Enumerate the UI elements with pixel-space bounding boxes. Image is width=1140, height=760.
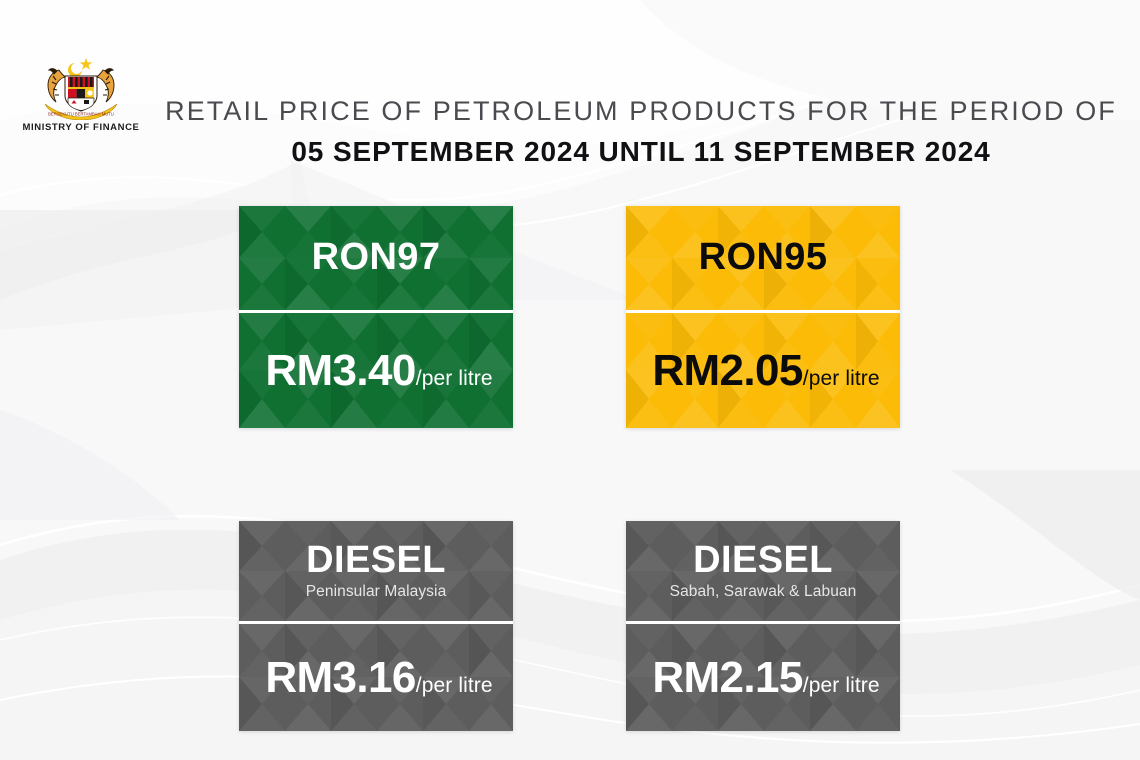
price-card-ron95-unit: /per litre xyxy=(803,368,880,389)
price-card-diesel-east-divider xyxy=(626,621,900,624)
price-card-diesel-sabah-sarawak-labuan: DIESEL Sabah, Sarawak & Labuan xyxy=(626,521,900,731)
price-card-ron97: RON97 xyxy=(239,206,513,428)
price-card-diesel-east-price-panel: RM2.15 /per litre xyxy=(626,624,900,731)
price-card-diesel-peninsular: DIESEL Peninsular Malaysia xyxy=(239,521,513,731)
price-card-diesel-east-region: Sabah, Sarawak & Labuan xyxy=(626,583,900,601)
price-card-diesel-peninsular-price-panel: RM3.16 /per litre xyxy=(239,624,513,731)
price-card-ron95-divider xyxy=(626,310,900,313)
price-card-ron97-header: RON97 xyxy=(239,206,513,310)
price-card-ron97-name: RON97 xyxy=(239,238,513,278)
price-card-diesel-east-price: RM2.15 xyxy=(652,656,802,700)
page-title-line-1: RETAIL PRICE OF PETROLEUM PRODUCTS FOR T… xyxy=(160,96,1122,127)
page-title-block: RETAIL PRICE OF PETROLEUM PRODUCTS FOR T… xyxy=(160,96,1122,168)
price-card-ron95-name: RON95 xyxy=(626,238,900,278)
price-card-diesel-peninsular-price: RM3.16 xyxy=(265,656,415,700)
price-card-diesel-peninsular-name: DIESEL xyxy=(239,541,513,581)
price-card-diesel-peninsular-unit: /per litre xyxy=(416,675,493,696)
price-card-ron95-header: RON95 xyxy=(626,206,900,310)
price-card-ron97-price-panel: RM3.40 /per litre xyxy=(239,313,513,428)
malaysia-coat-of-arms-icon: BERSEKUTU BERTAMBAH MUTU xyxy=(29,52,133,120)
price-card-diesel-peninsular-header: DIESEL Peninsular Malaysia xyxy=(239,521,513,621)
price-card-diesel-peninsular-divider xyxy=(239,621,513,624)
price-card-ron97-price: RM3.40 xyxy=(265,349,415,393)
ministry-name-label: MINISTRY OF FINANCE xyxy=(18,122,144,133)
ministry-emblem-block: BERSEKUTU BERTAMBAH MUTU MINISTRY OF FIN… xyxy=(18,52,144,133)
price-card-ron95-price-panel: RM2.05 /per litre xyxy=(626,313,900,428)
price-card-ron97-divider xyxy=(239,310,513,313)
price-card-diesel-east-unit: /per litre xyxy=(803,675,880,696)
price-card-ron95-price: RM2.05 xyxy=(652,349,802,393)
svg-text:BERSEKUTU BERTAMBAH MUTU: BERSEKUTU BERTAMBAH MUTU xyxy=(48,111,114,116)
price-card-ron97-unit: /per litre xyxy=(416,368,493,389)
price-card-ron95: RON95 xyxy=(626,206,900,428)
price-card-diesel-east-header: DIESEL Sabah, Sarawak & Labuan xyxy=(626,521,900,621)
price-card-diesel-east-name: DIESEL xyxy=(626,541,900,581)
price-card-diesel-peninsular-region: Peninsular Malaysia xyxy=(239,583,513,601)
page-title-line-2: 05 SEPTEMBER 2024 UNTIL 11 SEPTEMBER 202… xyxy=(160,136,1122,168)
